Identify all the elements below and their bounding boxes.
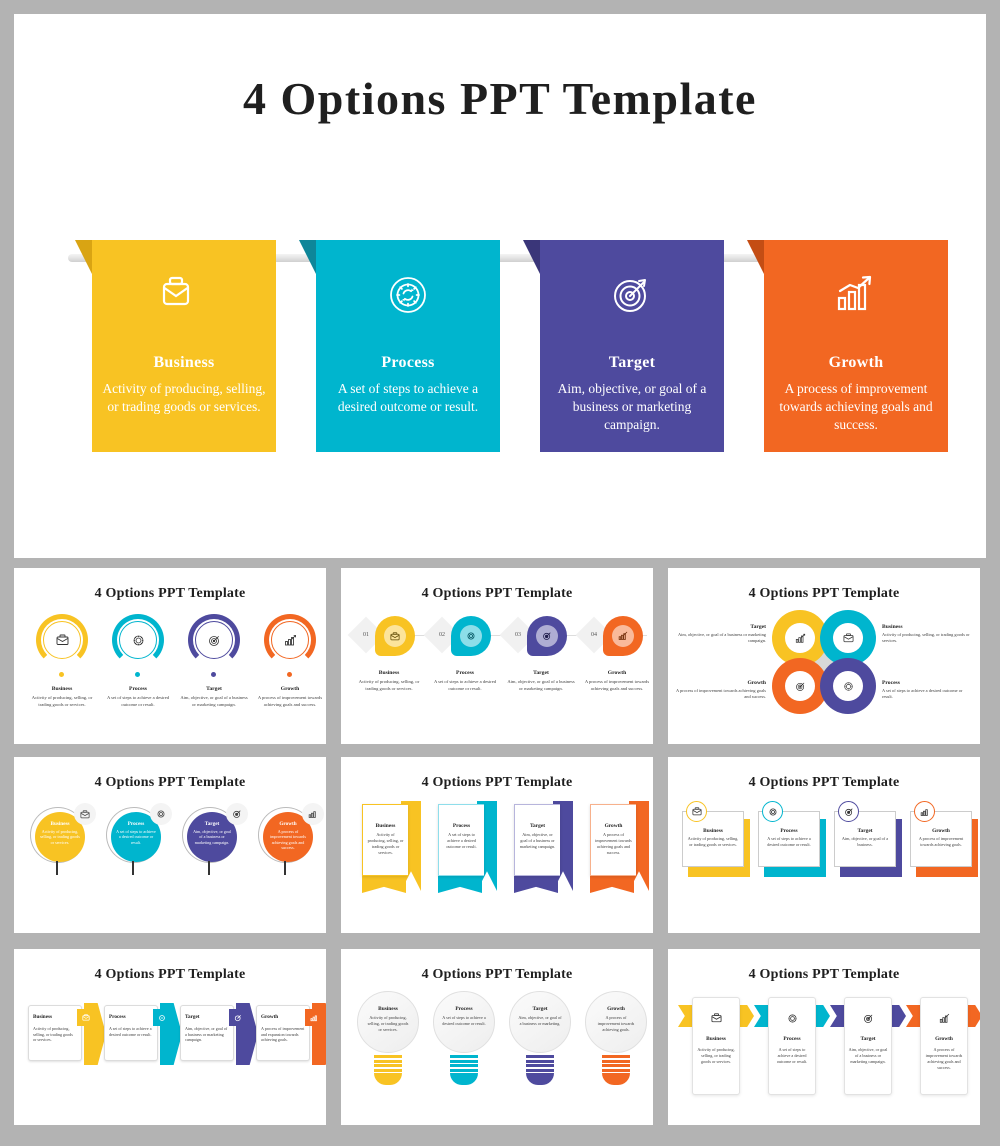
briefcase-icon: [77, 1009, 94, 1026]
list-item[interactable]: 03 Target Aim, objective, or goal of a b…: [505, 608, 577, 744]
item-desc: Activity of producing, selling, or tradi…: [882, 632, 974, 644]
bulb-glass-process: Process A set of steps to achieve a desi…: [433, 991, 495, 1053]
list-item[interactable]: Growth A process of improvement towards …: [908, 797, 980, 933]
item-title: Business: [39, 821, 81, 827]
banner-desc-growth: A process of improvement towards achievi…: [774, 380, 938, 433]
banner-business[interactable]: Business Activity of producing, selling,…: [92, 240, 276, 452]
list-item[interactable]: 01 Business Activity of producing, selli…: [353, 608, 425, 744]
blob-shape: [375, 616, 415, 656]
card-growth: Growth A process of improvement towards …: [920, 997, 968, 1095]
bulb-tip: [374, 1073, 402, 1085]
banner-target[interactable]: Target Aim, objective, or goal of a busi…: [540, 240, 724, 452]
target-icon: [226, 803, 248, 825]
briefcase-icon: [693, 1008, 739, 1028]
card-growth: Growth A process of improvement towards …: [590, 804, 636, 876]
banner-body-business: Business Activity of producing, selling,…: [92, 240, 276, 452]
thumb-stage: Business Activity of producing, selling,…: [14, 989, 326, 1125]
card-business: Business Activity of producing, selling,…: [692, 997, 740, 1095]
item-title: Target: [510, 1006, 570, 1012]
blob-inner: [536, 625, 558, 647]
item-desc: Aim, objective, or goal of a business or…: [510, 1015, 570, 1027]
item-title: Process: [102, 686, 174, 692]
item-desc: Activity of producing, selling, or tradi…: [39, 829, 81, 846]
thumb-title: 4 Options PPT Template: [668, 586, 980, 602]
item-desc: Activity of producing, selling, or tradi…: [26, 695, 98, 708]
item-desc: A process of improvement towards achievi…: [674, 688, 766, 700]
quad-label-growth: Growth A process of improvement towards …: [674, 680, 766, 700]
item-desc: A set of steps to achieve a desired outc…: [772, 1047, 812, 1065]
thumbnail-offset-boxes[interactable]: 4 Options PPT Template Business Activity…: [668, 757, 980, 933]
blob-inner: [384, 625, 406, 647]
list-item[interactable]: Growth A process of improvement towards …: [254, 797, 326, 933]
list-item[interactable]: Growth A process of improvement towards …: [581, 989, 653, 1125]
list-item[interactable]: Process A set of steps to achieve a desi…: [429, 797, 501, 933]
list-item[interactable]: Growth A process of improvement and expa…: [254, 989, 326, 1125]
item-desc: Activity of producing, selling, or tradi…: [353, 679, 425, 692]
briefcase-icon: [74, 803, 96, 825]
bulb-glass-target: Target Aim, objective, or goal of a busi…: [509, 991, 571, 1053]
gear-icon: [762, 801, 783, 822]
thumb-stage: Business Activity of producing, selling,…: [668, 989, 980, 1125]
list-item[interactable]: Target Aim, objective, or goal of a busi…: [505, 989, 577, 1125]
list-item[interactable]: Business Activity of producing, selling,…: [353, 989, 425, 1125]
list-item[interactable]: 04 Growth A process of improvement towar…: [581, 608, 653, 744]
thumb-title: 4 Options PPT Template: [14, 775, 326, 791]
thumb-title: 4 Options PPT Template: [341, 586, 653, 602]
item-desc: A set of steps to achieve a desired outc…: [429, 679, 501, 692]
banner-body-growth: Growth A process of improvement towards …: [764, 240, 948, 452]
quad-label-target: Target Aim, objective, or goal of a busi…: [674, 624, 766, 644]
stem-line: [284, 861, 286, 875]
list-item[interactable]: Process A set of steps to achieve a desi…: [756, 989, 828, 1125]
item-desc: A process of improvement towards achievi…: [911, 836, 971, 848]
card-process: Process A set of steps to achieve a desi…: [438, 804, 484, 876]
quad-label-process: Process A set of steps to achieve a desi…: [882, 680, 974, 700]
card-target: Target Aim, objective, or goal of a busi…: [844, 997, 892, 1095]
quad-circle-process[interactable]: [820, 658, 876, 714]
gear-icon: [153, 1009, 170, 1026]
bar-chart-icon: [302, 803, 324, 825]
item-desc: Activity of producing, selling, or tradi…: [358, 1015, 418, 1033]
item-desc: A process of improvement and expansion t…: [261, 1026, 305, 1043]
bar-chart-icon: [914, 801, 935, 822]
bar-chart-icon: [921, 1008, 967, 1028]
bar-chart-icon: [305, 1009, 322, 1026]
item-title: Growth: [911, 828, 971, 834]
target-icon: [838, 801, 859, 822]
item-title: Business: [358, 1006, 418, 1012]
item-title: Process: [769, 1036, 815, 1042]
thumb-stage: 01 Business Activity of producing, selli…: [341, 608, 653, 744]
item-title: Growth: [254, 686, 326, 692]
item-desc: A process of improvement towards achievi…: [581, 679, 653, 692]
quad-icon-target: [785, 623, 815, 653]
banner-fold-growth: [747, 240, 764, 274]
card-business: Business Activity of producing, selling,…: [28, 1005, 82, 1061]
banner-desc-business: Activity of producing, selling, or tradi…: [102, 380, 266, 416]
quad-diagram: [772, 610, 876, 714]
item-desc: A process of improvement towards achievi…: [267, 829, 309, 851]
item-title: Growth: [674, 680, 766, 686]
stem-line: [132, 861, 134, 875]
item-title: Business: [363, 823, 408, 829]
banner-desc-target: Aim, objective, or goal of a business or…: [550, 380, 714, 433]
item-title: Process: [115, 821, 157, 827]
bulb-tip: [602, 1073, 630, 1085]
thumb-stage: Business Activity of producing, selling,…: [14, 797, 326, 933]
thumb-title: 4 Options PPT Template: [14, 586, 326, 602]
blob-shape: [603, 616, 643, 656]
quad-icon-process: [833, 671, 863, 701]
item-desc: A set of steps to achieve a desired outc…: [102, 695, 174, 708]
thumb-title: 4 Options PPT Template: [341, 967, 653, 983]
list-item[interactable]: Business Activity of producing, selling,…: [680, 797, 752, 933]
list-item[interactable]: Business Activity of producing, selling,…: [26, 608, 98, 744]
target-arrow-icon: [540, 272, 724, 318]
thumb-stage: Business Activity of producing, selling,…: [341, 797, 653, 933]
bar-chart-growth-icon: [764, 272, 948, 318]
item-title: Process: [434, 1006, 494, 1012]
item-title: Target: [185, 1014, 200, 1020]
list-item[interactable]: Process A set of steps to achieve a desi…: [102, 608, 174, 744]
list-item[interactable]: Growth A process of improvement towards …: [254, 608, 326, 744]
item-title: Growth: [267, 821, 309, 827]
thumb-stage: Business Activity of producing, selling,…: [668, 797, 980, 933]
banner-fold-business: [75, 240, 92, 274]
item-title: Growth: [591, 823, 636, 829]
gear-icon: [150, 803, 172, 825]
list-item[interactable]: Business Activity of producing, selling,…: [680, 989, 752, 1125]
item-title: Target: [191, 821, 233, 827]
list-item[interactable]: Growth A process of improvement towards …: [908, 989, 980, 1125]
banner-fold-target: [523, 240, 540, 274]
item-title: Process: [429, 670, 501, 676]
list-item[interactable]: Target Aim, objective, or goal of a busi…: [505, 797, 577, 933]
banner-process[interactable]: Process A set of steps to achieve a desi…: [316, 240, 500, 452]
bulb-glass-growth: Growth A process of improvement towards …: [585, 991, 647, 1053]
item-title: Growth: [261, 1014, 278, 1020]
item-desc: Aim, objective, or goal of a business or…: [178, 695, 250, 708]
gear-icon: [769, 1008, 815, 1028]
target-icon: [845, 1008, 891, 1028]
blob-shape: [451, 616, 491, 656]
thumb-stage: Business Activity of producing, selling,…: [14, 608, 326, 744]
card-process: Process A set of steps to achieve a desi…: [768, 997, 816, 1095]
thumbnail-chevron-cards[interactable]: 4 Options PPT Template Business Activity…: [14, 949, 326, 1125]
banner-desc-process: A set of steps to achieve a desired outc…: [326, 380, 490, 416]
ring-inner: [43, 621, 81, 659]
item-desc: Aim, objective, or goal of a business or…: [185, 1026, 229, 1043]
list-item[interactable]: Target Aim, objective, or goal of a busi…: [832, 797, 904, 933]
item-title: Business: [693, 1036, 739, 1042]
thumbnail-lightbulbs[interactable]: 4 Options PPT Template Business Activity…: [341, 949, 653, 1125]
item-desc: A set of steps to achieve a desired outc…: [115, 829, 157, 846]
list-item[interactable]: Business Activity of producing, selling,…: [26, 989, 98, 1125]
item-desc: Aim, objective, or goal of a business or…: [191, 829, 233, 846]
thumbnail-ribbon-cards[interactable]: 4 Options PPT Template Business Activity…: [341, 757, 653, 933]
list-item[interactable]: Target Aim, objective, or goal of a busi…: [832, 989, 904, 1125]
item-desc: Activity of producing, selling, or tradi…: [683, 836, 743, 848]
item-title: Business: [26, 686, 98, 692]
thumb-title: 4 Options PPT Template: [341, 775, 653, 791]
item-desc: Activity of producing, selling, or tradi…: [363, 832, 408, 856]
banner-fold-process: [299, 240, 316, 274]
blob-shape: [527, 616, 567, 656]
thumbnail-solid-circles[interactable]: 4 Options PPT Template Business Activity…: [14, 757, 326, 933]
item-desc: A set of steps to achieve a desired outc…: [759, 836, 819, 848]
item-title: Target: [674, 624, 766, 630]
banner-title-target: Target: [540, 354, 724, 372]
item-desc: Aim, objective, or goal of a business or…: [674, 632, 766, 644]
item-desc: A set of steps to achieve a desired outc…: [434, 1015, 494, 1027]
item-title: Business: [683, 828, 743, 834]
card-target: Target Aim, objective, or goal of a busi…: [514, 804, 560, 876]
item-desc: A set of steps to achieve a desired outc…: [882, 688, 974, 700]
item-title: Target: [505, 670, 577, 676]
banner-growth[interactable]: Growth A process of improvement towards …: [764, 240, 948, 452]
bullet-dot: [211, 672, 216, 677]
item-desc: Activity of producing, selling, or tradi…: [696, 1047, 736, 1065]
bulb-glass-business: Business Activity of producing, selling,…: [357, 991, 419, 1053]
quad-icon-growth: [785, 671, 815, 701]
item-desc: Aim, objective, or goal of a business or…: [848, 1047, 888, 1065]
thumbnail-quad-circles[interactable]: 4 Options PPT Template: [668, 568, 980, 744]
card-target: Target Aim, objective, or goal of a busi…: [180, 1005, 234, 1061]
list-item[interactable]: Process A set of steps to achieve a desi…: [102, 797, 174, 933]
item-desc: A process of improvement towards achievi…: [586, 1015, 646, 1033]
quad-icon-business: [833, 623, 863, 653]
thumb-title: 4 Options PPT Template: [14, 967, 326, 983]
ring-inner: [271, 621, 309, 659]
gear-refresh-icon: [316, 272, 500, 318]
card-business: Business Activity of producing, selling,…: [362, 804, 408, 876]
blob-inner: [612, 625, 634, 647]
bulb-tip: [450, 1073, 478, 1085]
ring-inner: [195, 621, 233, 659]
bulb-tip: [526, 1073, 554, 1085]
list-item[interactable]: Growth A process of improvement towards …: [581, 797, 653, 933]
banner-title-process: Process: [316, 354, 500, 372]
list-item[interactable]: Process A set of steps to achieve a desi…: [756, 797, 828, 933]
banner-row: Business Activity of producing, selling,…: [68, 226, 948, 466]
item-desc: A set of steps to achieve a desired outc…: [439, 832, 484, 850]
list-item[interactable]: Process A set of steps to achieve a desi…: [429, 989, 501, 1125]
banner-title-business: Business: [92, 354, 276, 372]
item-desc: A process of improvement towards achievi…: [591, 832, 636, 856]
bullet-dot: [59, 672, 64, 677]
item-desc: Activity of producing, selling, or tradi…: [33, 1026, 77, 1043]
banner-body-target: Target Aim, objective, or goal of a busi…: [540, 240, 724, 452]
item-title: Process: [439, 823, 484, 829]
card-growth: Growth A process of improvement and expa…: [256, 1005, 310, 1061]
item-title: Target: [835, 828, 895, 834]
card-process: Process A set of steps to achieve a desi…: [104, 1005, 158, 1061]
thumbnail-numbered-diamonds[interactable]: 4 Options PPT Template 01 Business Activ…: [341, 568, 653, 744]
item-title: Growth: [921, 1036, 967, 1042]
list-item[interactable]: Target Aim, objective, or goal of a busi…: [178, 989, 250, 1125]
bullet-dot: [135, 672, 140, 677]
thumb-stage: Business Activity of producing, selling,…: [341, 989, 653, 1125]
item-title: Business: [33, 1014, 52, 1020]
item-desc: A process of improvement towards achievi…: [924, 1047, 964, 1071]
thumb-title: 4 Options PPT Template: [668, 967, 980, 983]
list-item[interactable]: Business Activity of producing, selling,…: [353, 797, 425, 933]
banner-title-growth: Growth: [764, 354, 948, 372]
item-title: Business: [882, 624, 974, 630]
item-title: Growth: [586, 1006, 646, 1012]
page-title: 4 Options PPT Template: [14, 72, 986, 125]
item-title: Process: [882, 680, 974, 686]
briefcase-icon: [92, 272, 276, 318]
item-title: Process: [759, 828, 819, 834]
thumb-stage: Target Aim, objective, or goal of a busi…: [668, 608, 980, 744]
stem-line: [56, 861, 58, 875]
thumb-title: 4 Options PPT Template: [668, 775, 980, 791]
list-item[interactable]: 02 Process A set of steps to achieve a d…: [429, 608, 501, 744]
thumbnail-double-ribbon-cards[interactable]: 4 Options PPT Template Business Activity…: [668, 949, 980, 1125]
item-title: Target: [845, 1036, 891, 1042]
item-desc: Aim, objective, or goal of a business or…: [505, 679, 577, 692]
list-item[interactable]: Business Activity of producing, selling,…: [26, 797, 98, 933]
list-item[interactable]: Target Aim, objective, or goal of a busi…: [178, 797, 250, 933]
item-title: Target: [178, 686, 250, 692]
item-title: Business: [353, 670, 425, 676]
bullet-dot: [287, 672, 292, 677]
ring-inner: [119, 621, 157, 659]
list-item[interactable]: Target Aim, objective, or goal of a busi…: [178, 608, 250, 744]
item-title: Process: [109, 1014, 126, 1020]
thumbnail-grid: 4 Options PPT Template Business Activity…: [14, 568, 986, 1132]
item-title: Target: [515, 823, 560, 829]
stem-line: [208, 861, 210, 875]
item-desc: A set of steps to achieve a desired outc…: [109, 1026, 153, 1037]
hero-slide[interactable]: 4 Options PPT Template Business Activity…: [14, 14, 986, 558]
quad-label-business: Business Activity of producing, selling,…: [882, 624, 974, 644]
item-desc: Aim, objective, or goal of a business.: [835, 836, 895, 848]
thumbnail-circular-rings[interactable]: 4 Options PPT Template Business Activity…: [14, 568, 326, 744]
target-icon: [229, 1009, 246, 1026]
blob-inner: [460, 625, 482, 647]
list-item[interactable]: Process A set of steps to achieve a desi…: [102, 989, 174, 1125]
item-desc: Aim, objective, or goal of a business or…: [515, 832, 560, 850]
banner-body-process: Process A set of steps to achieve a desi…: [316, 240, 500, 452]
item-title: Growth: [581, 670, 653, 676]
briefcase-icon: [686, 801, 707, 822]
item-desc: A process of improvement towards achievi…: [254, 695, 326, 708]
